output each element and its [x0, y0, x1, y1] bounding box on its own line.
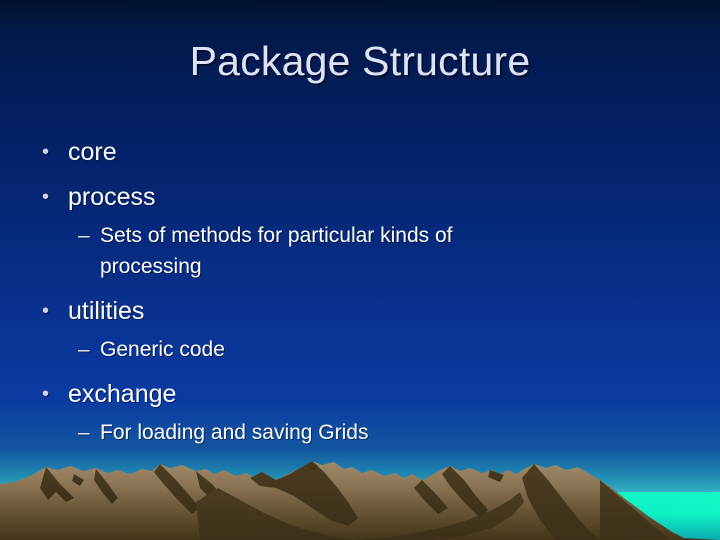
bullet-label: exchange — [68, 380, 176, 408]
bullet-item-process: • process — [40, 175, 660, 220]
sub-bullet-label: For loading and saving Grids — [100, 417, 600, 448]
dash-marker-icon: – — [78, 334, 90, 365]
bullet-list: • core • process – Sets of methods for p… — [40, 130, 660, 448]
bullet-marker-icon: • — [42, 130, 49, 175]
dash-marker-icon: – — [78, 417, 90, 448]
sub-bullet-label: Generic code — [100, 334, 600, 365]
bullet-item-utilities: • utilities — [40, 289, 660, 334]
sub-bullet-item: – Sets of methods for particular kinds o… — [40, 220, 600, 282]
dash-marker-icon: – — [78, 220, 90, 251]
bullet-marker-icon: • — [42, 175, 49, 220]
bullet-item-exchange: • exchange — [40, 372, 660, 417]
bullet-item-core: • core — [40, 130, 660, 175]
bullet-label: process — [68, 183, 156, 211]
bullet-label: core — [68, 138, 117, 166]
slide-canvas: Package Structure • core • process – Set… — [0, 0, 720, 540]
sub-bullet-label-line2: processing — [100, 251, 600, 282]
mountain-range-graphic — [0, 440, 720, 540]
sub-bullet-label-line1: Sets of methods for particular kinds of — [100, 220, 600, 251]
sub-bullet-item: – Generic code — [40, 334, 600, 365]
sub-bullet-item: – For loading and saving Grids — [40, 417, 600, 448]
slide-title: Package Structure — [0, 36, 720, 86]
bullet-label: utilities — [68, 297, 144, 325]
bullet-marker-icon: • — [42, 372, 49, 417]
bullet-marker-icon: • — [42, 289, 49, 334]
spacer — [40, 365, 660, 372]
mountain-shadow-facet — [600, 480, 668, 540]
spacer — [40, 282, 660, 289]
